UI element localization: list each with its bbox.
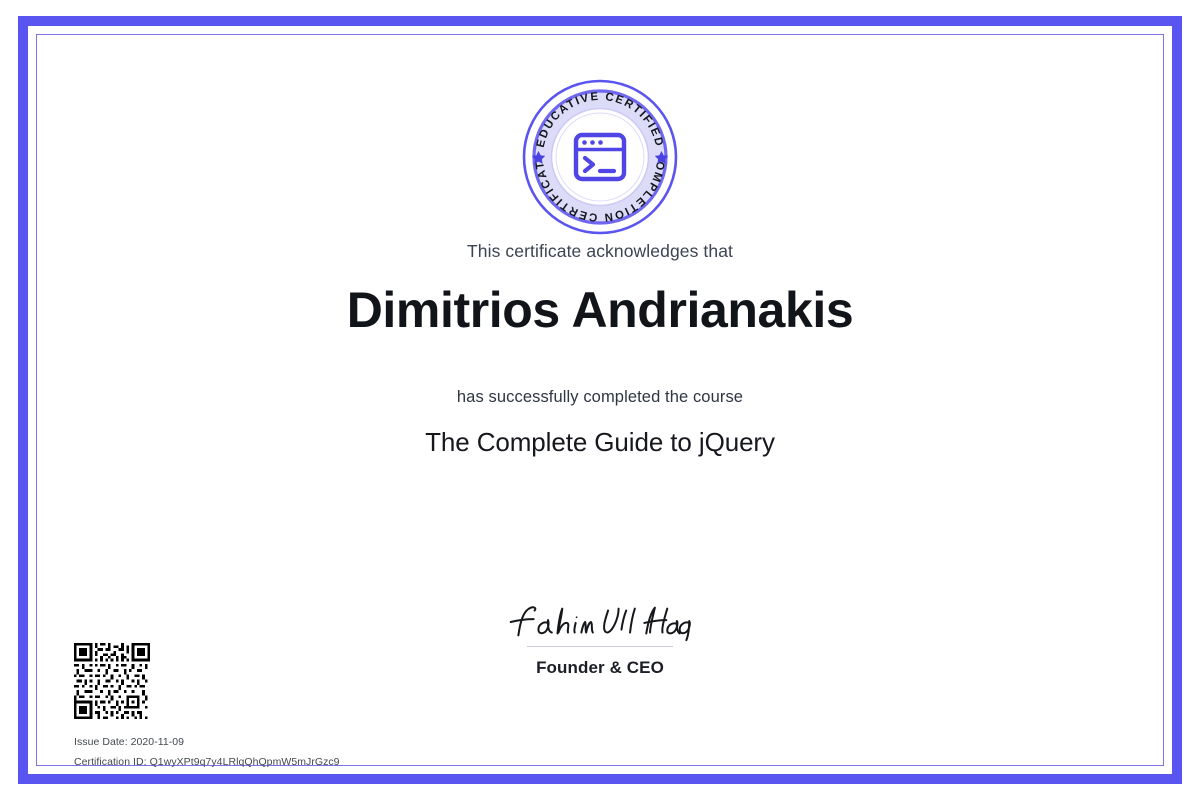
certificate-body: This certificate acknowledges that Dimit…: [37, 241, 1163, 458]
issue-date-label: Issue Date:: [74, 736, 128, 748]
qr-code-icon: [74, 643, 150, 719]
certificate-inner-border: EDUCATIVE CERTIFIED COMPLETION CERTIFICA…: [36, 34, 1164, 766]
terminal-window-icon: [576, 135, 624, 179]
issue-date-row: Issue Date: 2020-11-09: [74, 732, 340, 752]
recipient-name: Dimitrios Andrianakis: [37, 283, 1163, 338]
certification-id-row: Certification ID: Q1wyXPt9q7y4LRlqQhQpmW…: [74, 752, 340, 772]
certification-id-value: Q1wyXPt9q7y4LRlqQhQpmW5mJrGzc9: [150, 756, 340, 768]
qr-code[interactable]: [74, 643, 150, 719]
completion-line: has successfully completed the course: [37, 388, 1163, 407]
certificate-page: EDUCATIVE CERTIFIED COMPLETION CERTIFICA…: [0, 0, 1200, 800]
signature-block: Founder & CEO: [495, 601, 705, 678]
issue-date-value: 2020-11-09: [131, 736, 184, 748]
signature-mark-icon: [505, 601, 696, 643]
course-title: The Complete Guide to jQuery: [37, 427, 1163, 458]
certificate-metadata: Issue Date: 2020-11-09 Certification ID:…: [74, 732, 340, 773]
certification-id-label: Certification ID:: [74, 756, 147, 768]
signature-divider: [527, 646, 673, 647]
acknowledgement-line: This certificate acknowledges that: [37, 241, 1163, 262]
badge-container: EDUCATIVE CERTIFIED COMPLETION CERTIFICA…: [37, 79, 1163, 235]
certificate-content: EDUCATIVE CERTIFIED COMPLETION CERTIFICA…: [37, 35, 1163, 765]
signature-role: Founder & CEO: [495, 658, 705, 678]
educative-completion-seal-icon: EDUCATIVE CERTIFIED COMPLETION CERTIFICA…: [522, 79, 678, 235]
certificate-outer-border: EDUCATIVE CERTIFIED COMPLETION CERTIFICA…: [18, 16, 1182, 784]
